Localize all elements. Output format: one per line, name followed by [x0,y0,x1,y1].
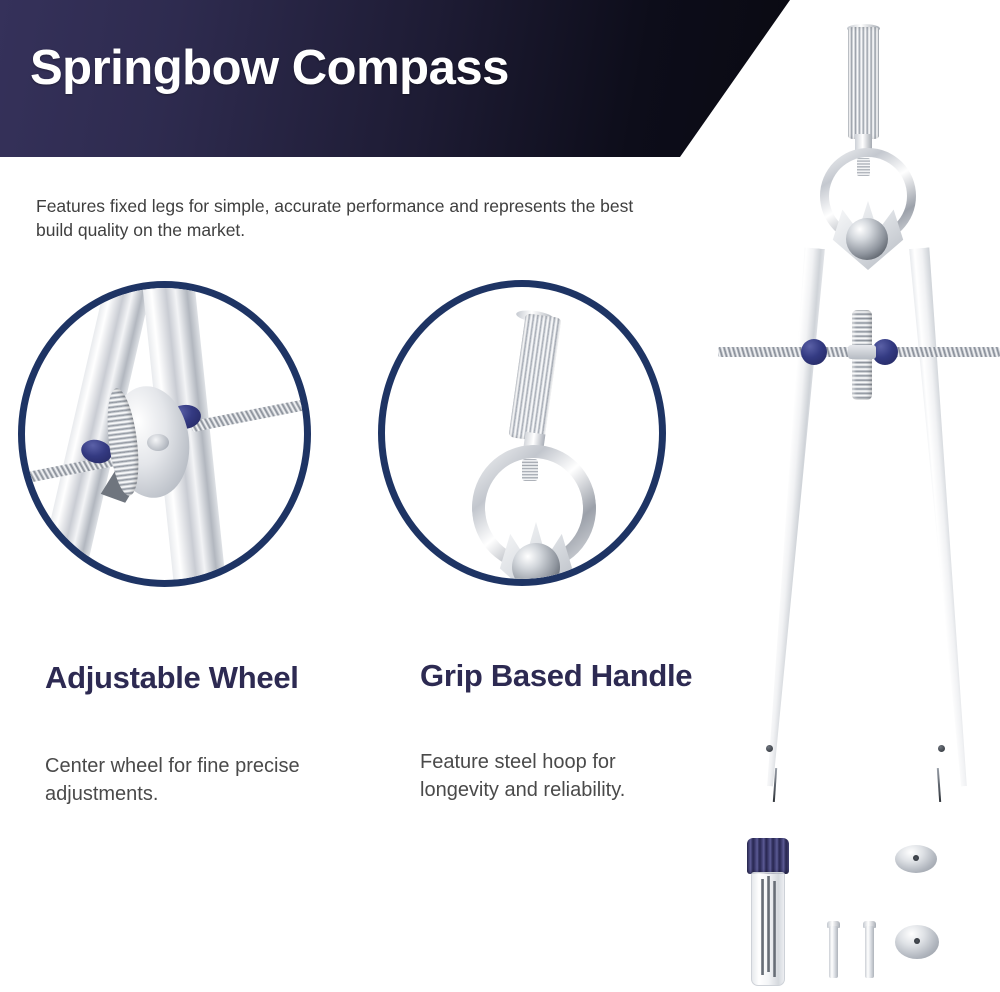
feature-body-grip-based-handle: Feature steel hoop for longevity and rel… [420,748,680,805]
lead-refill-tube-cap [747,838,789,874]
knurled-handle-detail [508,313,561,442]
callout-grip-based-handle [378,280,666,586]
ball-bearing [846,218,888,260]
page-title: Springbow Compass [30,42,509,96]
threaded-adjustment-rod-left [718,347,854,357]
adjustment-wheel-hub-screw [147,434,169,451]
knurled-handle [848,27,879,139]
lead-refill-tube [751,872,785,986]
spare-pin-1 [829,926,838,978]
center-wheel-hub [848,345,876,359]
hoop-mounting-screw-detail [522,459,538,481]
feature-title-grip-based-handle: Grip Based Handle [420,659,720,694]
leg-tip-screw-right [938,745,945,752]
subtitle-text: Features fixed legs for simple, accurate… [36,194,636,242]
spare-nut-bottom-hole [914,938,920,944]
leg-tip-screw-left [766,745,773,752]
product-image-springbow-compass [700,0,1000,992]
callout-adjustable-wheel-image [25,288,304,580]
blue-jewel-insert-left [801,339,827,365]
callout-grip-based-handle-image [385,287,659,579]
callout-adjustable-wheel [18,281,311,587]
lead-refill-3 [773,881,776,977]
spare-pin-2 [865,926,874,978]
feature-body-adjustable-wheel: Center wheel for fine precise adjustment… [45,752,345,809]
hoop-mounting-screw [857,158,870,176]
lead-refill-1 [761,879,764,975]
lead-refill-2 [767,876,770,972]
feature-title-adjustable-wheel: Adjustable Wheel [45,661,365,696]
spare-nut-top-hole [913,855,919,861]
